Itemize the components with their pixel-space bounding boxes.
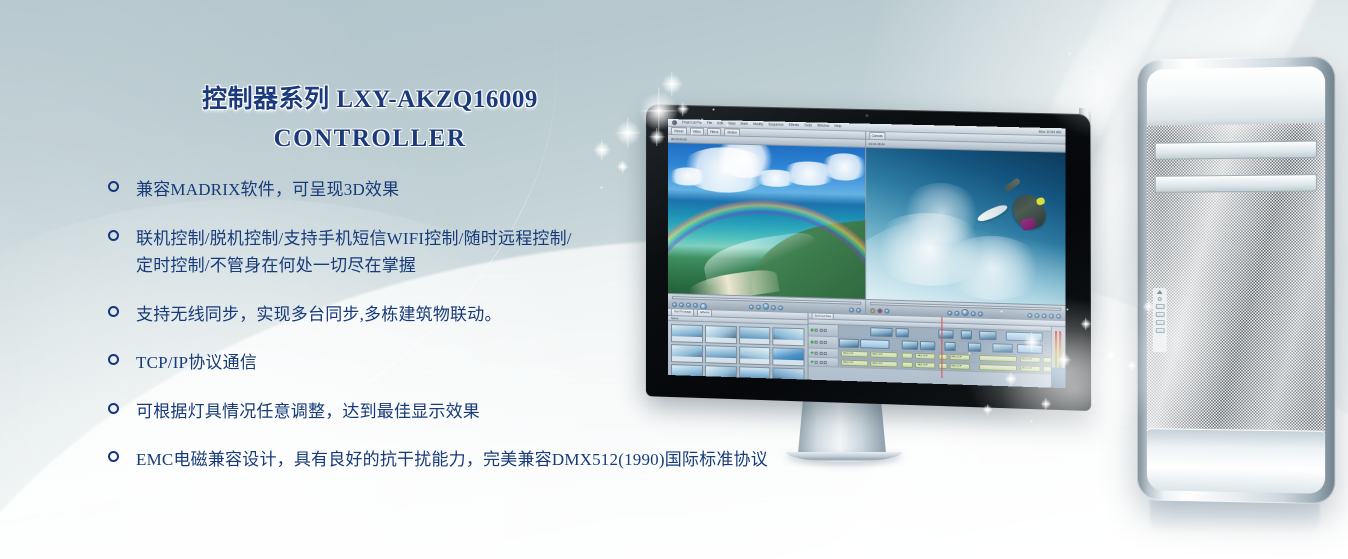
canvas-surfer xyxy=(866,148,1066,305)
zoom-control-button[interactable] xyxy=(1056,314,1061,319)
ring-bullet-icon xyxy=(108,181,119,192)
timeline-clip[interactable] xyxy=(1017,344,1042,354)
ring-bullet-icon xyxy=(108,306,119,317)
match-frame-button[interactable] xyxy=(1049,314,1054,319)
audio-meters-panel xyxy=(1051,327,1065,388)
audio-clip[interactable]: SEQ CLIP xyxy=(949,354,969,361)
timeline-clip[interactable] xyxy=(1006,332,1042,342)
timeline-clip[interactable] xyxy=(992,343,1012,353)
optical-drive-bay-2[interactable] xyxy=(1155,174,1317,193)
tower-reflection xyxy=(1150,500,1320,534)
title-model-line: 控制器系列 LXY-AKZQ16009 xyxy=(110,84,630,115)
ring-bullet-icon xyxy=(108,451,119,462)
play-around-button[interactable] xyxy=(970,311,975,316)
sparkle-star xyxy=(1106,350,1116,360)
feature-text: TCP/IP协议通信 xyxy=(136,349,257,377)
sparkle-dot xyxy=(1090,66,1093,69)
audio-clip[interactable] xyxy=(938,363,947,369)
sparkle-dot xyxy=(1128,78,1130,80)
list-item: 支持无线同步，实现多台同步,多栋建筑物联动。 xyxy=(108,301,868,329)
sparkle-dot xyxy=(1092,400,1095,403)
usb-port-icon[interactable] xyxy=(1155,304,1164,309)
list-item: EMC电磁兼容设计，具有良好的抗干扰能力，完美兼容DMX512(1990)国际标… xyxy=(108,446,868,474)
mark-in-button[interactable] xyxy=(1027,313,1032,318)
timeline-clip[interactable] xyxy=(920,341,936,351)
timeline-clip[interactable] xyxy=(945,342,956,351)
list-item: 联机控制/脱机控制/支持手机短信WIFI控制/随时远程控制/ 定时控制/不管身在… xyxy=(108,225,868,280)
front-port-cluster[interactable] xyxy=(1153,288,1167,352)
next-edit-button[interactable] xyxy=(978,311,983,316)
sparkle-dot xyxy=(1110,44,1113,47)
sparkle-dot xyxy=(1030,420,1033,423)
add-marker-button[interactable] xyxy=(1042,313,1047,318)
ring-bullet-icon xyxy=(108,230,119,241)
tower-mesh-grille xyxy=(1147,123,1325,437)
feature-text: 可根据灯具情况任意调整，达到最佳显示效果 xyxy=(136,398,480,426)
play-button[interactable] xyxy=(962,309,969,316)
audio-clip[interactable] xyxy=(902,352,913,358)
audio-clip[interactable]: SEQ CLIP xyxy=(915,353,935,360)
audio-clip[interactable] xyxy=(902,362,913,368)
optical-drive-bay-1[interactable] xyxy=(1155,141,1317,160)
timeline-playhead[interactable] xyxy=(941,317,942,378)
power-button-icon[interactable] xyxy=(1157,290,1163,294)
sparkle-star xyxy=(1126,360,1137,371)
timeline-clip[interactable] xyxy=(961,330,972,339)
ring-bullet-icon xyxy=(108,354,119,365)
audio-clip[interactable]: SEQ CLIP xyxy=(949,363,969,370)
audio-clip[interactable] xyxy=(979,355,1018,362)
tower-bottom-panel xyxy=(1147,428,1325,494)
canvas-right-buttons[interactable] xyxy=(1027,313,1061,319)
firewire-port-icon[interactable] xyxy=(1155,320,1164,325)
audio-clip[interactable] xyxy=(979,364,1018,371)
canvas-play-cluster[interactable] xyxy=(948,308,983,316)
feature-list: 兼容MADRIX软件，可呈现3D效果 联机控制/脱机控制/支持手机短信WIFI控… xyxy=(108,176,868,495)
status-led-icon xyxy=(1158,297,1162,301)
ring-bullet-icon xyxy=(108,403,119,414)
product-banner: 控制器系列 LXY-AKZQ16009 CONTROLLER 兼容MADRIX软… xyxy=(0,0,1348,559)
usb-port-icon[interactable] xyxy=(1155,312,1164,317)
sparkle-dot xyxy=(1068,52,1071,55)
feature-text: 支持无线同步，实现多台同步,多栋建筑物联动。 xyxy=(136,301,502,329)
tower-top-panel xyxy=(1147,66,1325,132)
mark-out-button[interactable] xyxy=(1034,313,1039,318)
list-item: 可根据灯具情况任意调整，达到最佳显示效果 xyxy=(108,398,868,426)
audio-port-icon[interactable] xyxy=(1155,328,1164,333)
title-controller-line: CONTROLLER xyxy=(110,115,630,163)
timeline-clip[interactable] xyxy=(979,331,997,341)
menubar-clock[interactable]: Mon 10:54 AM xyxy=(1039,129,1061,134)
feature-text: 兼容MADRIX软件，可呈现3D效果 xyxy=(136,176,399,204)
tower-computer xyxy=(1137,56,1335,505)
timeline-clip[interactable] xyxy=(938,329,954,339)
edit-overlay-button[interactable] xyxy=(884,309,889,314)
previous-edit-button[interactable] xyxy=(948,310,953,315)
feature-text: EMC电磁兼容设计，具有良好的抗干扰能力，完美兼容DMX512(1990)国际标… xyxy=(136,446,768,474)
copy-block: 控制器系列 LXY-AKZQ16009 CONTROLLER 兼容MADRIX软… xyxy=(0,0,880,559)
page-title: 控制器系列 LXY-AKZQ16009 CONTROLLER xyxy=(110,84,630,163)
list-item: 兼容MADRIX软件，可呈现3D效果 xyxy=(108,176,868,204)
timeline-clip[interactable] xyxy=(967,342,981,352)
list-item: TCP/IP协议通信 xyxy=(108,349,868,377)
play-in-to-out-button[interactable] xyxy=(955,310,960,315)
audio-clip[interactable]: SEQ CLIP xyxy=(1020,356,1040,363)
feature-text: 联机控制/脱机控制/支持手机短信WIFI控制/随时远程控制/ 定时控制/不管身在… xyxy=(136,225,572,280)
audio-clip[interactable]: SEQ CLIP xyxy=(1020,365,1040,372)
canvas-panel: Canvas 01:01:18:24 xyxy=(866,132,1066,321)
timeline-clip[interactable] xyxy=(895,328,909,338)
tool-palette[interactable] xyxy=(1051,367,1065,388)
audio-clip[interactable] xyxy=(938,354,947,360)
audio-clip[interactable]: SEQ CLIP xyxy=(915,362,935,369)
timeline-clip[interactable] xyxy=(902,340,918,350)
